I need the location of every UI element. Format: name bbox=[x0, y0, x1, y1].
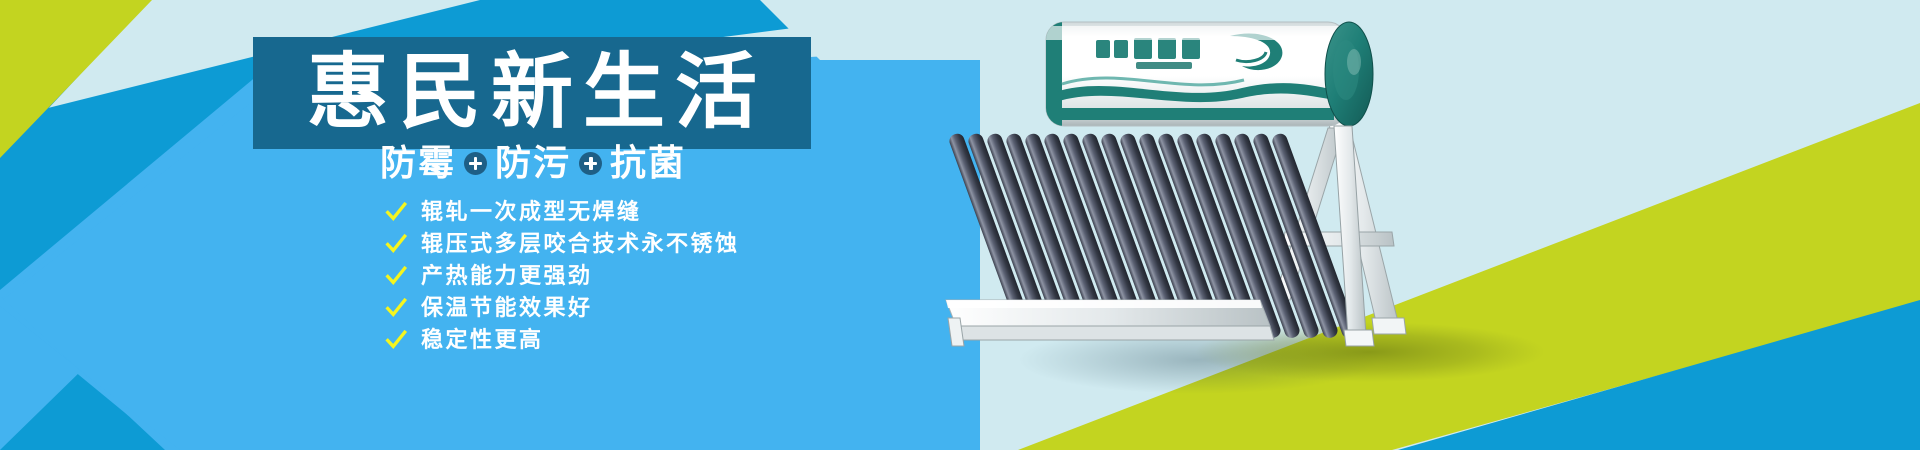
collector-frame bbox=[946, 300, 1274, 346]
feature-list: 辊轧一次成型无焊缝 辊压式多层咬合技术永不锈蚀 产热能力更强劲 保温节能效果好 bbox=[385, 196, 740, 356]
list-item-label: 保温节能效果好 bbox=[421, 297, 593, 319]
check-icon bbox=[385, 201, 407, 223]
subtitle-word-1: 防霉 bbox=[380, 145, 456, 181]
list-item-label: 辊压式多层咬合技术永不锈蚀 bbox=[421, 233, 740, 255]
subtitle-word-2: 防污 bbox=[495, 145, 571, 181]
product-image-solar-water-heater bbox=[930, 0, 1610, 400]
subtitle-row: 防霉 防污 抗菌 bbox=[253, 138, 813, 188]
list-item-label: 稳定性更高 bbox=[421, 329, 544, 351]
headline-panel: 惠民新生活 bbox=[253, 37, 811, 149]
promo-banner: 惠民新生活 防霉 防污 抗菌 辊轧一次成型无焊缝 辊压式多层咬合技术永不锈蚀 产… bbox=[0, 0, 1920, 450]
check-icon bbox=[385, 233, 407, 255]
list-item: 辊压式多层咬合技术永不锈蚀 bbox=[385, 228, 740, 259]
list-item: 辊轧一次成型无焊缝 bbox=[385, 196, 740, 227]
list-item: 稳定性更高 bbox=[385, 324, 740, 355]
check-icon bbox=[385, 329, 407, 351]
list-item: 产热能力更强劲 bbox=[385, 260, 740, 291]
list-item-label: 产热能力更强劲 bbox=[421, 265, 593, 287]
subtitle-word-3: 抗菌 bbox=[610, 145, 686, 181]
plus-icon bbox=[464, 152, 487, 175]
plus-icon bbox=[579, 152, 602, 175]
list-item: 保温节能效果好 bbox=[385, 292, 740, 323]
check-icon bbox=[385, 297, 407, 319]
page-title: 惠民新生活 bbox=[297, 52, 767, 134]
check-icon bbox=[385, 265, 407, 287]
storage-tank bbox=[1046, 22, 1373, 126]
list-item-label: 辊轧一次成型无焊缝 bbox=[421, 201, 642, 223]
